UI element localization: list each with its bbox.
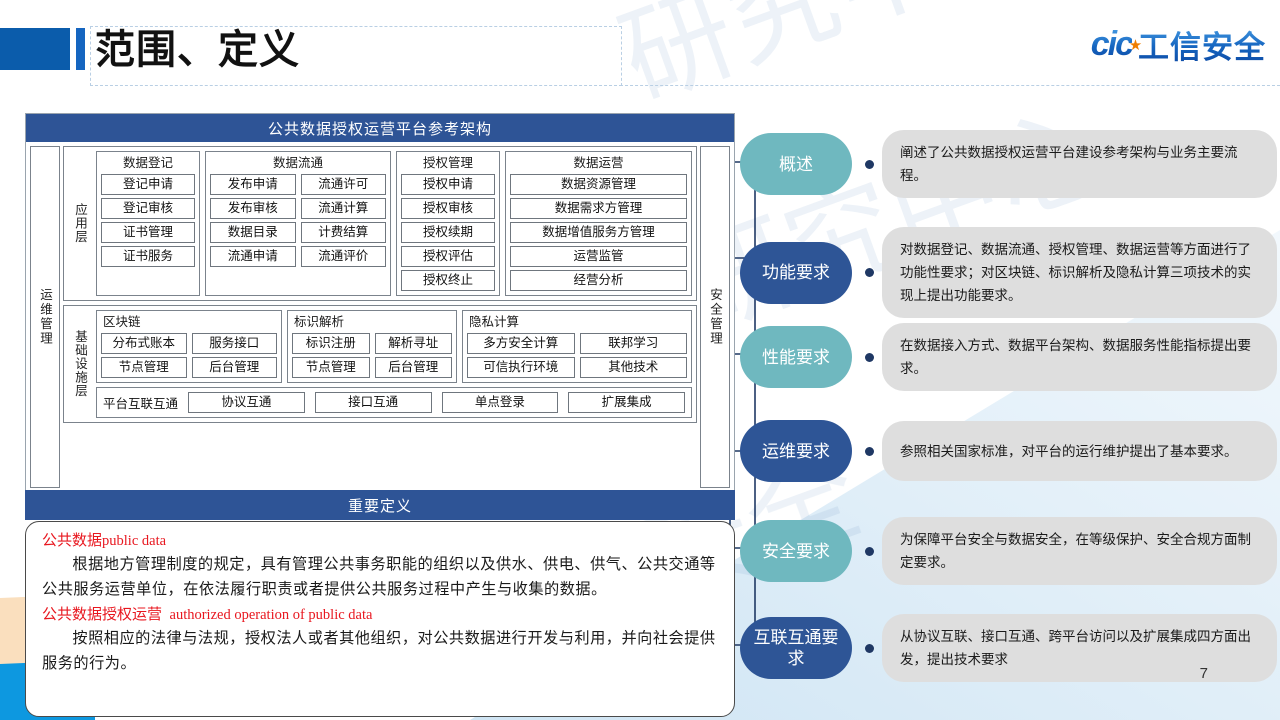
cell[interactable]: 计费结算 (301, 222, 387, 243)
definition-term-cn-2: 公共数据授权运营 (42, 607, 162, 623)
cell[interactable]: 发布申请 (210, 174, 296, 195)
group-authorization-management: 授权管理 授权申请 授权审核 授权续期 授权评估 授权终止 (396, 151, 500, 296)
connector-dot (865, 447, 874, 456)
requirement-row-operations[interactable]: 运维要求 参照相关国家标准，对平台的运行维护提出了基本要求。 (740, 420, 1277, 482)
group-title: 数据登记 (101, 155, 195, 171)
architecture-title: 公共数据授权运营平台参考架构 (26, 114, 734, 142)
platform-interconnection-row: 平台互联互通 协议互通 接口互通 单点登录 扩展集成 (96, 387, 692, 418)
group-privacy-computing: 隐私计算 多方安全计算 联邦学习 可信执行环境 其他技术 (462, 310, 692, 383)
requirement-pill-interconnection[interactable]: 互联互通要求 (740, 617, 852, 679)
connector-dot (865, 160, 874, 169)
definition-term-en-1: public data (102, 533, 166, 549)
requirement-row-performance[interactable]: 性能要求 在数据接入方式、数据平台架构、数据服务性能指标提出要求。 (740, 323, 1277, 391)
cell[interactable]: 授权申请 (401, 174, 495, 195)
page-number: 7 (1200, 665, 1208, 682)
cell[interactable]: 节点管理 (101, 357, 187, 378)
infrastructure-layer-label: 基础设施层 (68, 310, 92, 418)
cell[interactable]: 分布式账本 (101, 333, 187, 354)
cell[interactable]: 多方安全计算 (467, 333, 575, 354)
requirement-desc-interconnection: 从协议互联、接口互通、跨平台访问以及扩展集成四方面出发，提出技术要求 (882, 614, 1277, 682)
definitions-section-title: 重要定义 (25, 490, 735, 520)
cell[interactable]: 数据目录 (210, 222, 296, 243)
group-title: 数据运营 (510, 155, 687, 171)
cell[interactable]: 解析寻址 (375, 333, 453, 354)
cell[interactable]: 授权评估 (401, 246, 495, 267)
group-identifier-resolution: 标识解析 标识注册 解析寻址 节点管理 后台管理 (287, 310, 457, 383)
requirement-row-overview[interactable]: 概述 阐述了公共数据授权运营平台建设参考架构与业务主要流程。 (740, 130, 1277, 198)
cell[interactable]: 数据资源管理 (510, 174, 687, 195)
cell[interactable]: 协议互通 (188, 392, 305, 413)
cell[interactable]: 数据增值服务方管理 (510, 222, 687, 243)
cell[interactable]: 登记审核 (101, 198, 195, 219)
security-management-column: 安全管理 (700, 146, 730, 488)
group-title: 隐私计算 (467, 314, 687, 330)
definition-term-cn-1: 公共数据 (42, 533, 102, 549)
group-blockchain: 区块链 分布式账本 服务接口 节点管理 后台管理 (96, 310, 282, 383)
definition-term-1: 公共数据public data (42, 530, 720, 552)
definition-body-1: 根据地方管理制度的规定，具有管理公共事务职能的组织以及供水、供电、供气、公共交通… (42, 552, 720, 602)
cell[interactable]: 证书服务 (101, 246, 195, 267)
architecture-diagram: 公共数据授权运营平台参考架构 运维管理 应用层 数据登记 登记申请 登记审核 证… (25, 113, 735, 493)
cell[interactable]: 扩展集成 (568, 392, 685, 413)
requirement-pill-performance[interactable]: 性能要求 (740, 326, 852, 388)
requirement-row-security[interactable]: 安全要求 为保障平台安全与数据安全，在等级保护、安全合规方面制定要求。 (740, 517, 1277, 585)
group-data-circulation: 数据流通 发布申请 流通许可 发布审核 流通计算 数据目录 (205, 151, 391, 296)
logo-mark: cic (1091, 25, 1132, 64)
requirement-desc-security: 为保障平台安全与数据安全，在等级保护、安全合规方面制定要求。 (882, 517, 1277, 585)
group-data-registration: 数据登记 登记申请 登记审核 证书管理 证书服务 (96, 151, 200, 296)
cell[interactable]: 可信执行环境 (467, 357, 575, 378)
logo-text: 工信安全 (1138, 22, 1266, 67)
cell[interactable]: 经营分析 (510, 270, 687, 291)
group-title: 区块链 (101, 314, 277, 330)
cell[interactable]: 授权终止 (401, 270, 495, 291)
connector-dot (865, 353, 874, 362)
header-blue-block (0, 28, 70, 70)
group-title: 数据流通 (210, 155, 386, 171)
requirements-panel: 概述 阐述了公共数据授权运营平台建设参考架构与业务主要流程。 功能要求 对数据登… (740, 110, 1280, 690)
cell[interactable]: 服务接口 (192, 333, 278, 354)
cell[interactable]: 后台管理 (375, 357, 453, 378)
definition-term-2: 公共数据授权运营 authorized operation of public … (42, 604, 720, 626)
connector-dot (865, 547, 874, 556)
cell[interactable]: 联邦学习 (580, 333, 688, 354)
group-title: 授权管理 (401, 155, 495, 171)
cell[interactable]: 其他技术 (580, 357, 688, 378)
application-layer: 应用层 数据登记 登记申请 登记审核 证书管理 证书服务 数据流通 (63, 146, 697, 301)
definition-term-en-2: authorized operation of public data (170, 607, 373, 623)
cell[interactable]: 后台管理 (192, 357, 278, 378)
cell[interactable]: 发布审核 (210, 198, 296, 219)
requirement-row-function[interactable]: 功能要求 对数据登记、数据流通、授权管理、数据运营等方面进行了功能性要求；对区块… (740, 227, 1277, 318)
ops-management-column: 运维管理 (30, 146, 60, 488)
requirement-pill-operations[interactable]: 运维要求 (740, 420, 852, 482)
cell[interactable]: 运营监管 (510, 246, 687, 267)
cell[interactable]: 数据需求方管理 (510, 198, 687, 219)
connector-dot (865, 268, 874, 277)
page-title: 范围、定义 (95, 22, 300, 78)
connector-dot (865, 644, 874, 653)
cell[interactable]: 授权审核 (401, 198, 495, 219)
requirement-desc-performance: 在数据接入方式、数据平台架构、数据服务性能指标提出要求。 (882, 323, 1277, 391)
cell[interactable]: 标识注册 (292, 333, 370, 354)
group-title: 标识解析 (292, 314, 452, 330)
requirement-row-interconnection[interactable]: 互联互通要求 从协议互联、接口互通、跨平台访问以及扩展集成四方面出发，提出技术要… (740, 614, 1277, 682)
cell[interactable]: 流通计算 (301, 198, 387, 219)
cell[interactable]: 流通许可 (301, 174, 387, 195)
requirement-desc-operations: 参照相关国家标准，对平台的运行维护提出了基本要求。 (882, 421, 1277, 481)
cell[interactable]: 授权续期 (401, 222, 495, 243)
requirement-pill-function[interactable]: 功能要求 (740, 242, 852, 304)
group-data-operation: 数据运营 数据资源管理 数据需求方管理 数据增值服务方管理 运营监管 经营分析 (505, 151, 692, 296)
requirement-pill-security[interactable]: 安全要求 (740, 520, 852, 582)
definitions-box: 公共数据public data 根据地方管理制度的规定，具有管理公共事务职能的组… (25, 521, 735, 717)
infrastructure-layer: 基础设施层 区块链 分布式账本 服务接口 节点管理 (63, 305, 697, 423)
header-accent-bar (76, 28, 85, 70)
star-icon: ★ (1129, 36, 1142, 54)
cell[interactable]: 证书管理 (101, 222, 195, 243)
application-layer-label: 应用层 (68, 151, 92, 296)
requirement-desc-overview: 阐述了公共数据授权运营平台建设参考架构与业务主要流程。 (882, 130, 1277, 198)
requirement-pill-overview[interactable]: 概述 (740, 133, 852, 195)
requirement-desc-function: 对数据登记、数据流通、授权管理、数据运营等方面进行了功能性要求；对区块链、标识解… (882, 227, 1277, 318)
cic-logo: cic ★ 工信安全 (1091, 22, 1266, 67)
cell[interactable]: 节点管理 (292, 357, 370, 378)
cell[interactable]: 接口互通 (315, 392, 432, 413)
cell[interactable]: 流通评价 (301, 246, 387, 267)
cell[interactable]: 登记申请 (101, 174, 195, 195)
interop-label: 平台互联互通 (103, 393, 178, 412)
header-dashed-rule (620, 85, 1280, 86)
cell[interactable]: 单点登录 (442, 392, 559, 413)
definition-body-2: 按照相应的法律与法规，授权法人或者其他组织，对公共数据进行开发与利用，并向社会提… (42, 626, 720, 676)
watermark-text: 研究中心 (606, 0, 1061, 123)
cell[interactable]: 流通申请 (210, 246, 296, 267)
